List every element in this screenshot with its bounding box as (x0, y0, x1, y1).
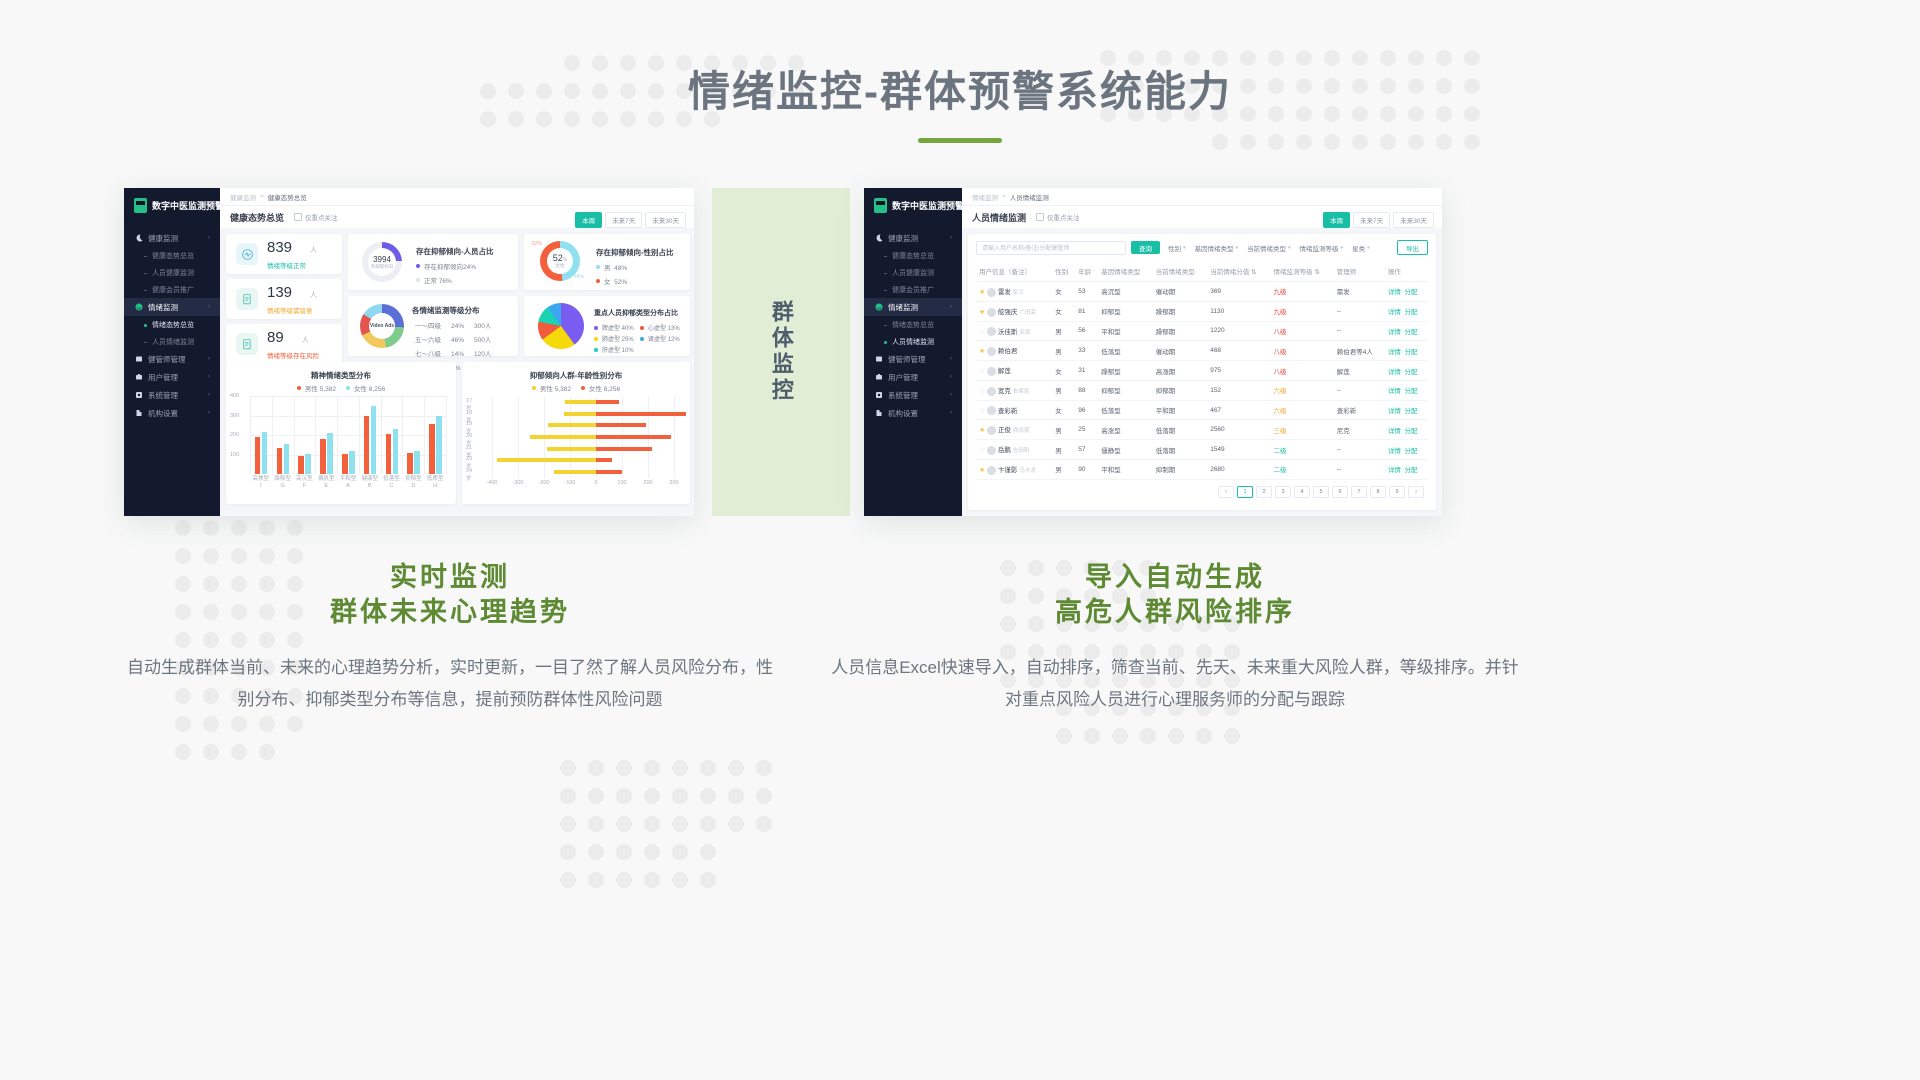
pulse-icon (236, 243, 258, 265)
sidebar-subitem-label: 健康会员推广 (152, 285, 194, 295)
caption-heading-line2: 群体未来心理趋势 (330, 597, 570, 627)
badge-icon (135, 355, 143, 363)
sidebar-item-4[interactable]: 系统管理› (124, 386, 220, 404)
center-highlight-block: 群体监控 (712, 188, 850, 516)
center-highlight-label: 群体监控 (766, 300, 796, 404)
x-tick-3: 偏执型E (315, 476, 337, 490)
sidebar-subitem-1-0[interactable]: 情绪态势总览 (864, 316, 962, 333)
doc-risk-icon (236, 333, 258, 355)
avatar (987, 387, 996, 396)
cell-age: 90 (1075, 460, 1098, 480)
stat-label: 情绪等级需留意 (267, 305, 317, 315)
cell-level: 八级 (1271, 341, 1334, 361)
cell-current-type: 低落期 (1153, 440, 1208, 460)
assign-link[interactable]: 分配 (1404, 289, 1417, 296)
sidebar-item-0[interactable]: 健康监测› (864, 229, 962, 247)
donut-center-value: 52% (553, 253, 567, 263)
cell-score: 467 (1207, 400, 1270, 420)
cell-user: ★ 卞谨影马卡龙 (976, 460, 1052, 480)
favorite-star-icon[interactable]: ☆ (979, 329, 985, 336)
left-main: 健康监测 > 健康态势总览 健康态势总览 仅重点关注 本周未来7天未来30天 8… (220, 188, 694, 516)
legend-text: 肾虚型 12% (648, 334, 680, 343)
sidebar-subitem-0-2[interactable]: 健康会员推广 (124, 281, 220, 298)
legend-dot (596, 279, 600, 283)
cell-gene-type: 平和型 (1098, 460, 1153, 480)
sidebar-subitem-0-1[interactable]: 人员健康监测 (864, 264, 962, 281)
legend-item: 存在抑郁倾向24% (416, 261, 494, 271)
legend-dot (532, 386, 536, 390)
avatar (987, 288, 996, 297)
hbar-female-5 (596, 458, 612, 462)
hbar-male-0 (565, 400, 596, 404)
sidebar-subitem-label: 人员情绪监测 (152, 337, 194, 347)
cell-gene-type: 高沉型 (1098, 282, 1153, 302)
chevron-right-icon: › (208, 304, 210, 310)
cell-actions: 详情 分配 (1385, 341, 1428, 361)
breadcrumb-current: 健康态势总览 (268, 192, 307, 202)
cell-gene-type: 抑郁型 (1098, 301, 1153, 321)
legend-item-1: 心虚型 13% (640, 323, 686, 332)
page-5[interactable]: 5 (1313, 486, 1329, 498)
sidebar-item-label: 健康监测 (148, 233, 178, 244)
assign-link[interactable]: 分配 (1404, 309, 1417, 316)
hbar-male-4 (547, 447, 596, 451)
x-tick-7: 抑郁型D (402, 476, 424, 490)
favorite-star-icon[interactable]: ★ (979, 289, 985, 296)
cell-actions: 详情 分配 (1385, 380, 1428, 400)
caption-heading-line1: 导入自动生成 (1085, 562, 1265, 592)
cell-level: 九级 (1271, 301, 1334, 321)
level-row-2: 七～八级14%120人 (414, 349, 498, 361)
cell-user: ☆ 宽克布莱恩 (976, 380, 1052, 400)
search-input[interactable]: 请输入用户名称/备注/分配健管师 (976, 241, 1126, 255)
detail-link[interactable]: 详情 (1388, 388, 1401, 395)
assign-link[interactable]: 分配 (1404, 388, 1417, 395)
caption-heading-line1: 实时监测 (390, 562, 510, 592)
hbar-chart-legend: 男性 5,382女性 8,256 (462, 383, 690, 393)
cell-user: ☆ 查彩新 (976, 400, 1052, 420)
cell-user: ☆ 沃佳斯亚斌 (976, 321, 1052, 341)
hbar-female-0 (596, 400, 619, 404)
chevron-right-icon: › (208, 392, 210, 398)
bar-女性-1 (284, 444, 290, 474)
favorite-star-icon[interactable]: ★ (979, 348, 985, 355)
cell-user: ☆ 解莲 (976, 361, 1052, 381)
legend-dot (640, 337, 644, 341)
level-row-1: 五～六级46%500人 (414, 335, 498, 347)
sidebar-item-1[interactable]: 情绪监测› (124, 298, 220, 316)
left-dashboard-window: 数字中医监测预警平台 健康监测›健康态势总览人员健康监测健康会员推广情绪监测›情… (124, 188, 694, 516)
assign-link[interactable]: 分配 (1404, 408, 1417, 415)
table-row[interactable]: ☆ 解莲女31躁郁型高涨期975八级解莲详情 分配 (976, 361, 1428, 381)
bar-男性-4 (342, 454, 348, 474)
pagination[interactable]: ‹123456789› (968, 480, 1436, 504)
breadcrumb: 情绪监测 > 人员情绪监测 (962, 188, 1442, 205)
sidebar-item-0[interactable]: 健康监测› (124, 229, 220, 247)
table-row[interactable]: ★ 舷强庆广田荣女81抑郁型躁郁期1130九级--详情 分配 (976, 301, 1428, 321)
avatar (987, 308, 996, 317)
page-6[interactable]: 6 (1332, 486, 1348, 498)
x-tick-6: 低落型C (381, 476, 403, 490)
assign-link[interactable]: 分配 (1404, 448, 1417, 455)
chart-card-age-gender: 抑郁倾向人群-年龄性别分布 男性 5,382女性 8,256 17岁18岁19岁… (462, 362, 690, 504)
cell-actions: 详情 分配 (1385, 321, 1428, 341)
stat-card-0: 839人情绪等级正常 (226, 234, 342, 274)
caption-left-heading: 实时监测 群体未来心理趋势 (120, 560, 780, 630)
bar-男性-3 (320, 439, 326, 474)
cell-gender: 男 (1052, 420, 1075, 440)
donut-depression-tendency: 3994 有抑郁倾向 (362, 242, 402, 282)
x-tick: -300 (509, 480, 527, 486)
bar-女性-6 (393, 429, 399, 474)
assign-link[interactable]: 分配 (1404, 369, 1417, 376)
chart-title: 各情绪监测等级分布 (412, 305, 500, 316)
page-3[interactable]: 3 (1275, 486, 1291, 498)
user-note: 西戎黛 (1013, 428, 1030, 434)
title-underline (918, 138, 1002, 143)
badge-icon (875, 355, 883, 363)
left-sidebar: 数字中医监测预警平台 健康监测›健康态势总览人员健康监测健康会员推广情绪监测›情… (124, 188, 220, 516)
detail-link[interactable]: 详情 (1388, 369, 1401, 376)
logo-icon (874, 198, 887, 213)
right-range-segments[interactable]: 本周未来7天未来30天 (1323, 212, 1434, 228)
sidebar-subitem-label: 健康态势总览 (152, 251, 194, 261)
table-row[interactable]: ★ 雷发彭兰女53高沉型催动期369九级需发详情 分配 (976, 282, 1428, 302)
avatar (987, 327, 996, 336)
breadcrumb-parent[interactable]: 情绪监测 (972, 192, 998, 202)
stat-unit: 人 (310, 292, 317, 299)
dropdown-2[interactable]: 当前情绪类型▾ (1247, 243, 1291, 253)
checkbox-box[interactable] (1036, 213, 1044, 221)
sidebar-item-label: 情绪监测 (148, 302, 178, 313)
user-name: 查彩新 (998, 408, 1018, 415)
chevron-right-icon: › (208, 356, 210, 362)
legend-dot (594, 337, 598, 341)
left-nav[interactable]: 健康监测›健康态势总览人员健康监测健康会员推广情绪监测›情绪态势总览人员情绪监测… (124, 229, 220, 422)
dropdown-3[interactable]: 情绪监测等级▾ (1300, 243, 1344, 253)
x-tick-4: 平和型A (337, 476, 359, 490)
x-tick-0: 高焦型I (250, 476, 272, 490)
stat-unit: 人 (302, 337, 309, 344)
bar-chart-plot (250, 396, 446, 474)
chart-card-emotion-level: Video Ads 各情绪监测等级分布 一～四级24%300人五～六级46%50… (348, 296, 518, 356)
right-main: 情绪监测 > 人员情绪监测 人员情绪监测 仅重点关注 本周未来7天未来30天 请… (962, 188, 1442, 516)
table-row[interactable]: ☆ 查彩新女96低落型平和期467六级查彩新详情 分配 (976, 400, 1428, 420)
cell-gender: 男 (1052, 440, 1075, 460)
cell-gene-type: 躁郁型 (1098, 361, 1153, 381)
cell-level: 二级 (1271, 440, 1334, 460)
bar-女性-0 (262, 432, 268, 474)
legend-text: 女性 8,256 (589, 383, 620, 393)
page-9[interactable]: 9 (1389, 486, 1405, 498)
assign-link[interactable]: 分配 (1404, 349, 1417, 356)
legend-item-0: 男性 5,382 (297, 383, 336, 393)
cell-age: 25 (1075, 420, 1098, 440)
filter-dropdown-group[interactable]: 性别▾基因情绪类型▾当前情绪类型▾情绪监测等级▾星类▾ (1168, 243, 1370, 253)
right-sidebar: 数字中医监测预警平台 健康监测›健康态势总览人员健康监测健康会员推广情绪监测›情… (864, 188, 962, 516)
cell-manager: 解莲 (1334, 361, 1385, 381)
bar-男性-6 (386, 434, 392, 474)
col-3: 基因情绪类型 (1098, 261, 1153, 282)
chart-card-depression-gender: 52% 女性 52% 48% 存在抑郁倾向-性别占比 男 48% 女 52% (524, 234, 690, 290)
sidebar-subitem-label: 健康态势总览 (892, 251, 934, 261)
cell-level: 六级 (1271, 380, 1334, 400)
favorite-star-icon[interactable]: ☆ (979, 447, 985, 454)
sort-icon[interactable]: ⇅ (1314, 269, 1319, 276)
detail-link[interactable]: 详情 (1388, 329, 1401, 336)
bar-男性-2 (298, 456, 304, 474)
chart-card-key-personnel: 重点人员抑郁类型分布占比 脾虚型 40%心虚型 13%肺虚型 25%肾虚型 12… (524, 296, 690, 356)
search-button[interactable]: 查询 (1131, 241, 1160, 254)
smile-icon (875, 303, 883, 311)
sidebar-item-4[interactable]: 系统管理› (864, 386, 962, 404)
page-title: 情绪监控-群体预警系统能力 (0, 58, 1920, 119)
table-row[interactable]: ★ 赖伯君男33低落型催动期468八级赖伯君等4人详情 分配 (976, 341, 1428, 361)
favorite-star-icon[interactable]: ☆ (979, 368, 985, 375)
bar-男性-1 (277, 448, 283, 474)
sort-icon[interactable]: ⇅ (1251, 269, 1256, 276)
cell-level: 九级 (1271, 282, 1334, 302)
cell-score: 2680 (1207, 460, 1270, 480)
sidebar-item-2[interactable]: 健管师管理› (124, 350, 220, 368)
sidebar-subitem-label: 人员健康监测 (152, 268, 194, 278)
assign-link[interactable]: 分配 (1404, 467, 1417, 474)
favorite-star-icon[interactable]: ★ (979, 427, 985, 434)
sidebar-item-1[interactable]: 情绪监测› (864, 298, 962, 316)
legend-item-1: 女性 8,256 (581, 383, 620, 393)
donut-center-label: Video Ads (370, 323, 394, 329)
sidebar-item-5[interactable]: 机构设置› (864, 404, 962, 422)
checkbox-box[interactable] (294, 213, 302, 221)
cell-actions: 详情 分配 (1385, 440, 1428, 460)
cell-actions: 详情 分配 (1385, 361, 1428, 381)
avatar (987, 466, 996, 475)
col-5[interactable]: 当前情绪分值 ⇅ (1207, 261, 1270, 282)
table-row[interactable]: ☆ 沃佳斯亚斌男56平和型躁郁期1220八级--详情 分配 (976, 321, 1428, 341)
table-row[interactable]: ★ 卞谨影马卡龙男90平和型抑制期2680二级--详情 分配 (976, 460, 1428, 480)
cell-current-type: 躁郁期 (1153, 321, 1208, 341)
hbar-female-2 (596, 423, 646, 427)
cell-current-type: 催动期 (1153, 282, 1208, 302)
page-next[interactable]: › (1408, 486, 1424, 498)
export-button[interactable]: 导出 (1397, 240, 1428, 255)
cell-age: 81 (1075, 301, 1098, 321)
cell-manager: 尼克 (1334, 420, 1385, 440)
cell-gene-type: 低落型 (1098, 341, 1153, 361)
table-panel: 请输入用户名称/备注/分配健管师 查询 性别▾基因情绪类型▾当前情绪类型▾情绪监… (968, 234, 1436, 510)
stat-label: 情绪等级正常 (267, 260, 317, 270)
logo-icon (134, 198, 147, 213)
dropdown-1[interactable]: 基因情绪类型▾ (1195, 243, 1239, 253)
sidebar-subitem-0-2[interactable]: 健康会员推广 (864, 281, 962, 298)
segment-0[interactable]: 本周 (575, 212, 602, 228)
sidebar-subitem-label: 情绪态势总览 (152, 320, 194, 330)
detail-link[interactable]: 详情 (1388, 289, 1401, 296)
chevron-right-icon: › (950, 235, 952, 241)
col-6[interactable]: 情绪监测等级 ⇅ (1271, 261, 1334, 282)
page-7[interactable]: 7 (1351, 486, 1367, 498)
breadcrumb: 健康监测 > 健康态势总览 (220, 188, 694, 205)
detail-link[interactable]: 详情 (1388, 309, 1401, 316)
x-tick: -100 (561, 480, 579, 486)
favorite-star-icon[interactable]: ★ (979, 467, 985, 474)
stat-unit: 人 (310, 247, 317, 254)
legend-text: 男性 5,382 (540, 383, 571, 393)
favorite-star-icon[interactable]: ☆ (979, 388, 985, 395)
hbar-female-4 (596, 447, 652, 451)
detail-link[interactable]: 详情 (1388, 349, 1401, 356)
left-range-segments[interactable]: 本周未来7天未来30天 (575, 212, 686, 228)
pie-key-personnel (538, 303, 584, 349)
cell-level: 八级 (1271, 321, 1334, 341)
cell-age: 57 (1075, 440, 1098, 460)
stat-value: 89 (267, 329, 284, 346)
sidebar-subitem-0-1[interactable]: 人员健康监测 (124, 264, 220, 281)
cell-current-type: 躁郁期 (1153, 301, 1208, 321)
segment-1[interactable]: 未来7天 (1353, 212, 1390, 228)
legend-dot (581, 386, 585, 390)
hbar-chart-plot (492, 396, 674, 478)
cell-gender: 男 (1052, 341, 1075, 361)
detail-link[interactable]: 详情 (1388, 448, 1401, 455)
sidebar-subitem-1-1[interactable]: 人员情绪监测 (864, 333, 962, 350)
y-tick: 300 (230, 413, 239, 419)
chevron-right-icon: › (950, 392, 952, 398)
cell-gender: 男 (1052, 321, 1075, 341)
sidebar-item-label: 健康监测 (888, 233, 918, 244)
dropdown-4[interactable]: 星类▾ (1352, 243, 1370, 253)
bar-女性-5 (371, 406, 377, 474)
user-name: 舷强庆 (998, 309, 1018, 316)
assign-link[interactable]: 分配 (1404, 329, 1417, 336)
cell-age: 96 (1075, 400, 1098, 420)
page-4[interactable]: 4 (1294, 486, 1310, 498)
dropdown-0[interactable]: 性别▾ (1168, 243, 1186, 253)
x-tick: -400 (483, 480, 501, 486)
chart-title: 重点人员抑郁类型分布占比 (594, 308, 686, 318)
stat-card-list: 839人情绪等级正常139人情绪等级需留意89人情绪等级存在风险 (226, 234, 342, 369)
chart-title: 抑郁倾向人群-年龄性别分布 (462, 370, 690, 381)
sidebar-subitem-label: 情绪态势总览 (892, 320, 934, 330)
segment-2[interactable]: 未来30天 (645, 212, 686, 228)
cell-manager: 赖伯君等4人 (1334, 341, 1385, 361)
right-nav[interactable]: 健康监测›健康态势总览人员健康监测健康会员推广情绪监测›情绪态势总览人员情绪监测… (864, 229, 962, 422)
y-tick: 100 (230, 452, 239, 458)
sidebar-subitem-1-1[interactable]: 人员情绪监测 (124, 333, 220, 350)
table-body: ★ 雷发彭兰女53高沉型催动期369九级需发详情 分配★ 舷强庆广田荣女81抑郁… (976, 282, 1428, 480)
donut-center-sub: 有抑郁倾向 (371, 264, 394, 270)
user-note: 布莱恩 (1013, 389, 1030, 395)
detail-link[interactable]: 详情 (1388, 428, 1401, 435)
checkbox-label: 仅重点关注 (305, 212, 338, 222)
col-4: 当前情绪类型 (1153, 261, 1208, 282)
legend-dot (594, 326, 598, 330)
cell-current-type: 抑郁期 (1153, 380, 1208, 400)
sidebar-item-label: 用户管理 (148, 372, 178, 383)
right-table-window: 数字中医监测预警平台 健康监测›健康态势总览人员健康监测健康会员推广情绪监测›情… (864, 188, 1442, 516)
segment-0[interactable]: 本周 (1323, 212, 1350, 228)
caption-left: 实时监测 群体未来心理趋势 自动生成群体当前、未来的心理趋势分析，实时更新，一目… (120, 560, 780, 715)
pie-legend: 脾虚型 40%心虚型 13%肺虚型 25%肾虚型 12%肝虚型 10% (594, 321, 686, 354)
detail-link[interactable]: 详情 (1388, 467, 1401, 474)
hbar-female-1 (596, 412, 686, 416)
favorite-star-icon[interactable]: ☆ (979, 408, 985, 415)
page-prev[interactable]: ‹ (1218, 486, 1234, 498)
favorite-star-icon[interactable]: ★ (979, 309, 985, 316)
level-label: 七～八级 (414, 349, 448, 361)
cell-gender: 女 (1052, 301, 1075, 321)
building-icon (135, 409, 143, 417)
segment-2[interactable]: 未来30天 (1393, 212, 1434, 228)
breadcrumb-separator: > (1002, 193, 1006, 200)
x-tick: -200 (535, 480, 553, 486)
cell-level: 三级 (1271, 420, 1334, 440)
sidebar-item-3[interactable]: 用户管理› (864, 368, 962, 386)
sidebar-item-5[interactable]: 机构设置› (124, 404, 220, 422)
bar-女性-7 (414, 451, 420, 474)
legend-text: 肺虚型 25% (602, 334, 634, 343)
table-row[interactable]: ☆ 岳鹏吉田阳男57僵静型低落期1549二级--详情 分配 (976, 440, 1428, 460)
page-2[interactable]: 2 (1256, 486, 1272, 498)
segment-1[interactable]: 未来7天 (605, 212, 642, 228)
sidebar-item-3[interactable]: 用户管理› (124, 368, 220, 386)
gear-icon (135, 391, 143, 399)
bar-女性-4 (349, 451, 355, 474)
donut-outside-label-male: 48% (574, 274, 584, 280)
table-row[interactable]: ★ 正俊西戎黛男25高涨型低落期2560三级尼克详情 分配 (976, 420, 1428, 440)
x-tick: 0 (587, 480, 605, 486)
assign-link[interactable]: 分配 (1404, 428, 1417, 435)
cell-level: 二级 (1271, 460, 1334, 480)
chevron-right-icon: › (950, 410, 952, 416)
sidebar-subitem-label: 人员情绪监测 (892, 337, 934, 347)
sidebar-subitem-1-0[interactable]: 情绪态势总览 (124, 316, 220, 333)
hbar-male-5 (497, 458, 596, 462)
sidebar-subitem-label: 人员健康监测 (892, 268, 934, 278)
chevron-down-icon: ▾ (1236, 245, 1239, 251)
legend-text: 男性 5,382 (305, 383, 336, 393)
sidebar-item-2[interactable]: 健管师管理› (864, 350, 962, 368)
focus-only-checkbox[interactable]: 仅重点关注 (1036, 212, 1080, 222)
sidebar-subitem-0-0[interactable]: 健康态势总览 (124, 247, 220, 264)
breadcrumb-parent[interactable]: 健康监测 (230, 192, 256, 202)
cell-manager: -- (1334, 440, 1385, 460)
bar-男性-7 (407, 453, 413, 474)
level-count: 500人 (473, 335, 498, 347)
bar-女性-2 (305, 454, 311, 474)
cell-age: 33 (1075, 341, 1098, 361)
stat-card-1: 139人情绪等级需留意 (226, 279, 342, 319)
legend-text: 女 52% (604, 276, 627, 286)
sidebar-subitem-0-0[interactable]: 健康态势总览 (864, 247, 962, 264)
hbar-male-6 (554, 470, 596, 474)
user-name: 沃佳斯 (998, 329, 1018, 336)
cell-score: 1130 (1207, 301, 1270, 321)
table-row[interactable]: ☆ 宽克布莱恩男88抑郁型抑郁期152六级--详情 分配 (976, 380, 1428, 400)
page-8[interactable]: 8 (1370, 486, 1386, 498)
user-name: 解莲 (998, 368, 1011, 375)
page-1[interactable]: 1 (1237, 486, 1253, 498)
detail-link[interactable]: 详情 (1388, 408, 1401, 415)
donut-outside-label-female: 52% (532, 241, 542, 247)
focus-only-checkbox[interactable]: 仅重点关注 (294, 212, 338, 222)
y-tick-6: 24岁 (466, 468, 472, 482)
right-page-header: 人员情绪监测 仅重点关注 本周未来7天未来30天 (962, 205, 1442, 228)
smile-icon (135, 303, 143, 311)
x-tick-1: 躁郁型G (272, 476, 294, 490)
user-name: 雷发 (998, 289, 1011, 296)
donut-emotion-level: Video Ads (360, 304, 404, 348)
